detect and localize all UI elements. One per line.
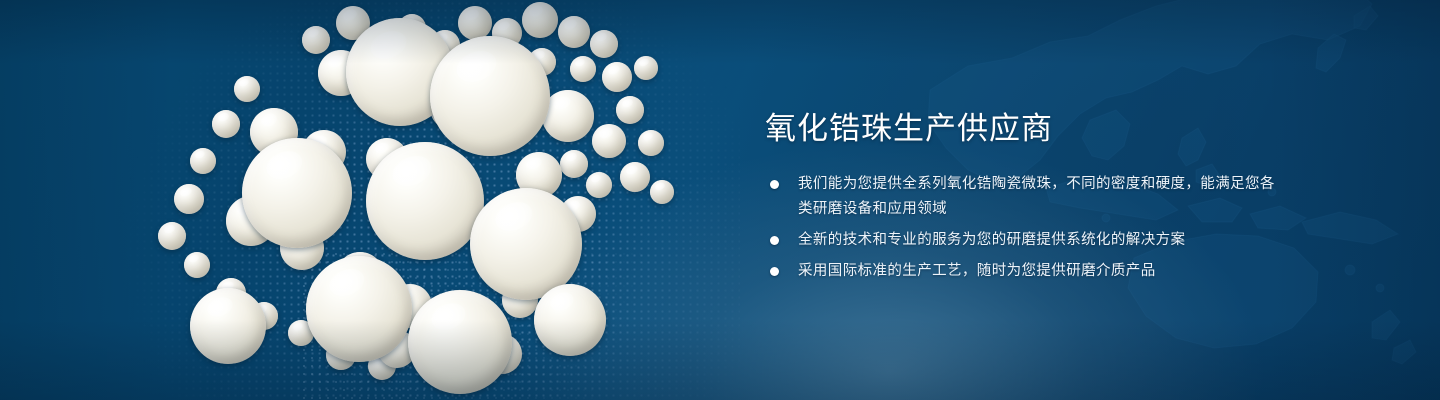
feature-item-3: 采用国际标准的生产工艺，随时为您提供研磨介质产品 xyxy=(765,259,1285,284)
banner-title: 氧化锆珠生产供应商 xyxy=(765,108,1285,150)
feature-item-1: 我们能为您提供全系列氧化锆陶瓷微珠，不同的密度和硬度，能满足您各类研磨设备和应用… xyxy=(765,172,1285,222)
banner-content: 氧化锆珠生产供应商 我们能为您提供全系列氧化锆陶瓷微珠，不同的密度和硬度，能满足… xyxy=(765,108,1285,284)
bullet-dot-icon xyxy=(770,267,779,276)
bullet-dot-icon xyxy=(770,180,779,189)
banner-feature-list: 我们能为您提供全系列氧化锆陶瓷微珠，不同的密度和硬度，能满足您各类研磨设备和应用… xyxy=(765,172,1285,284)
hero-banner: 氧化锆珠生产供应商 我们能为您提供全系列氧化锆陶瓷微珠，不同的密度和硬度，能满足… xyxy=(0,0,1440,400)
feature-item-2-text: 全新的技术和专业的服务为您的研磨提供系统化的解决方案 xyxy=(798,232,1185,248)
feature-item-2: 全新的技术和专业的服务为您的研磨提供系统化的解决方案 xyxy=(765,228,1285,253)
bullet-dot-icon xyxy=(770,236,779,245)
feature-item-1-text: 我们能为您提供全系列氧化锆陶瓷微珠，不同的密度和硬度，能满足您各类研磨设备和应用… xyxy=(798,176,1275,217)
feature-item-3-text: 采用国际标准的生产工艺，随时为您提供研磨介质产品 xyxy=(798,263,1156,279)
